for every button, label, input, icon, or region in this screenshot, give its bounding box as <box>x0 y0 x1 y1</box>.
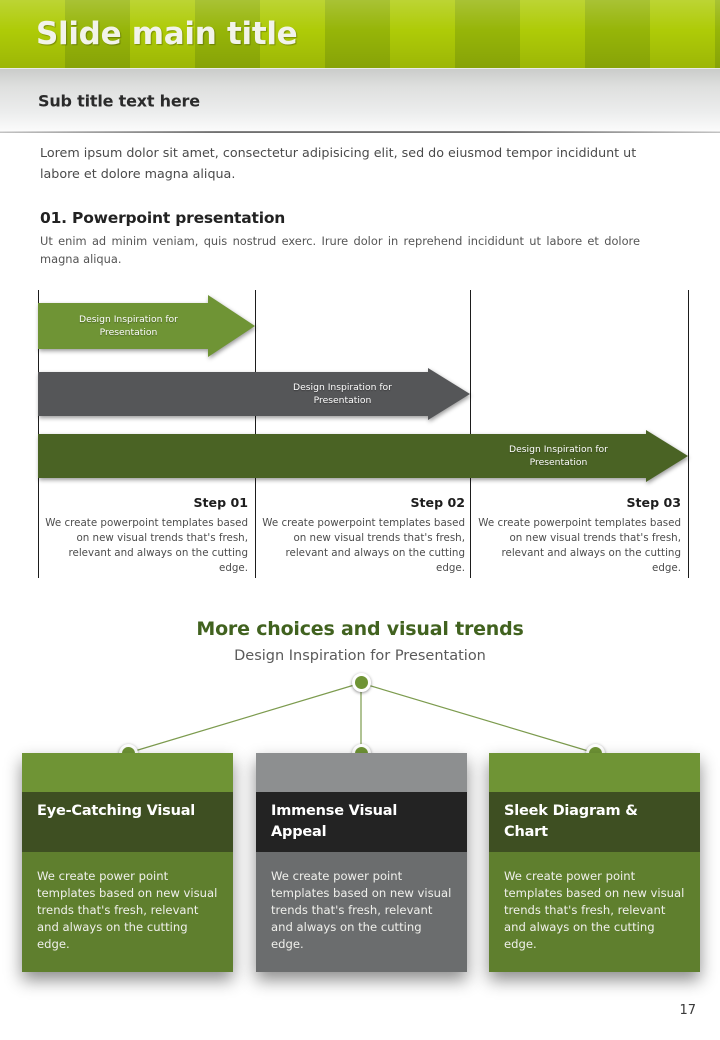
subtitle-band: Sub title text here <box>0 68 720 133</box>
tree-line-left <box>128 683 361 753</box>
process-arrow-row-2[interactable]: Design Inspiration for Presentation <box>38 368 688 420</box>
section-paragraph: Ut enim ad minim veniam, quis nostrud ex… <box>40 232 640 268</box>
arrow-label-2: Design Inspiration for Presentation <box>270 381 415 407</box>
card-title-2: Immense Visual Appeal <box>256 792 467 852</box>
step-name-1: Step 01 <box>45 495 248 510</box>
section-heading: 01. Powerpoint presentation <box>40 209 285 227</box>
card-body-2: We create power point templates based on… <box>256 852 467 972</box>
feature-card-2[interactable]: Immense Visual Appeal We create power po… <box>256 753 467 972</box>
slide-header-band: Slide main title <box>0 0 720 68</box>
card-title-1: Eye-Catching Visual <box>22 792 233 852</box>
lead-paragraph: Lorem ipsum dolor sit amet, consectetur … <box>40 142 640 184</box>
tree-line-right <box>361 683 595 753</box>
step-column-1: Step 01 We create powerpoint templates b… <box>45 495 248 576</box>
arrow-label-1: Design Inspiration for Presentation <box>56 313 201 339</box>
card-top-band-3 <box>489 753 700 792</box>
step-desc-1: We create powerpoint templates based on … <box>45 516 248 576</box>
step-name-2: Step 02 <box>262 495 465 510</box>
process-arrow-diagram: Design Inspiration for Presentation Desi… <box>38 290 688 580</box>
page-title: Slide main title <box>36 16 297 52</box>
step-desc-2: We create powerpoint templates based on … <box>262 516 465 576</box>
step-column-3: Step 03 We create powerpoint templates b… <box>478 495 681 576</box>
step-name-3: Step 03 <box>478 495 681 510</box>
tree-heading: More choices and visual trends <box>0 618 720 640</box>
process-arrow-row-1[interactable]: Design Inspiration for Presentation <box>38 295 688 357</box>
card-body-3: We create power point templates based on… <box>489 852 700 972</box>
step-desc-3: We create powerpoint templates based on … <box>478 516 681 576</box>
card-body-1: We create power point templates based on… <box>22 852 233 972</box>
sub-title: Sub title text here <box>38 91 200 110</box>
card-top-band-1 <box>22 753 233 792</box>
step-column-2: Step 02 We create powerpoint templates b… <box>262 495 465 576</box>
card-title-3: Sleek Diagram & Chart <box>489 792 700 852</box>
card-top-band-2 <box>256 753 467 792</box>
tree-root-node[interactable] <box>352 673 371 692</box>
feature-card-1[interactable]: Eye-Catching Visual We create power poin… <box>22 753 233 972</box>
arrow-label-3: Design Inspiration for Presentation <box>486 443 631 469</box>
diagram-divider-3 <box>688 290 689 578</box>
process-arrow-row-3[interactable]: Design Inspiration for Presentation <box>38 430 688 482</box>
feature-card-3[interactable]: Sleek Diagram & Chart We create power po… <box>489 753 700 972</box>
page-number: 17 <box>679 1003 696 1018</box>
